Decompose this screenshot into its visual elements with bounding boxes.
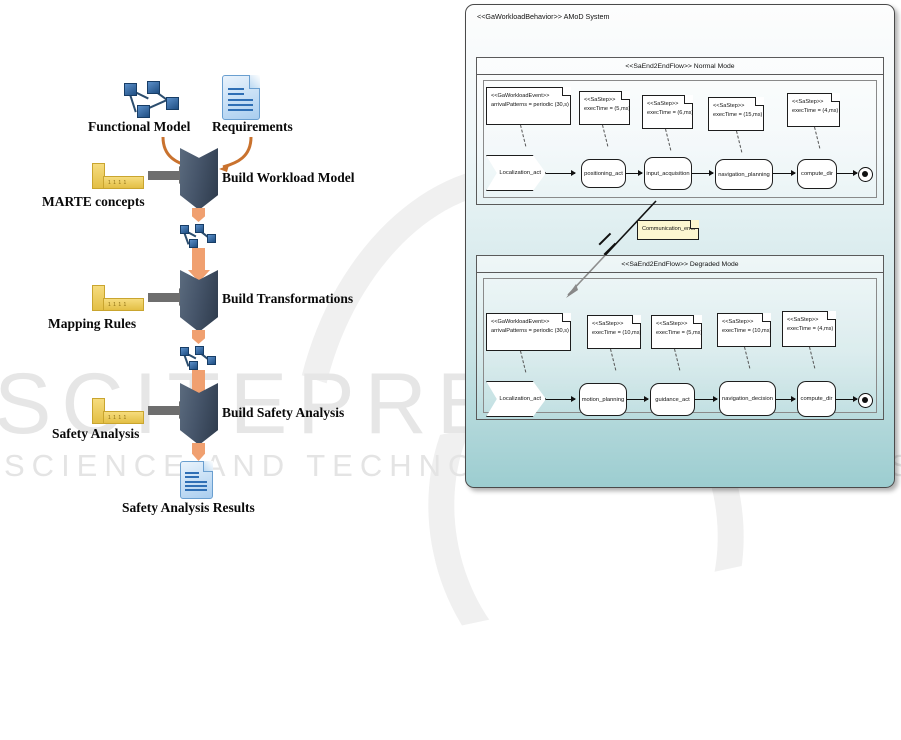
note-stereotype: <<SaStep>> <box>713 102 760 111</box>
left-workflow-diagram: Functional Model Requirements 1 1 1 1 Bu… <box>0 0 455 641</box>
node-compute-dir[interactable]: compute_dir <box>797 381 836 417</box>
note-anchor <box>520 351 526 373</box>
note-stereotype: <<SaStep>> <box>787 316 832 325</box>
node-localization-act[interactable]: Localization_act <box>486 381 546 417</box>
control-flow <box>837 173 857 174</box>
note-stereotype: <<SaStep>> <box>647 100 689 109</box>
note-anchor <box>736 131 742 153</box>
label-build-transformations: Build Transformations <box>222 291 353 307</box>
label-build-safety-analysis: Build Safety Analysis <box>222 405 344 421</box>
node-compute-dir[interactable]: compute_dir <box>797 159 837 189</box>
note-value: execTime = (5,ms) <box>656 329 698 338</box>
document-icon <box>180 461 213 499</box>
note-sastep: <<SaStep>> execTime = (10,ms) <box>587 315 641 349</box>
node-navigation-planning[interactable]: navigation_planning <box>715 159 773 190</box>
note-gaworkloadevent: <<GaWorkloadEvent>> arrivalPatterns = pe… <box>486 87 571 125</box>
flow-arrow-down <box>192 330 205 344</box>
node-localization-act[interactable]: Localization_act <box>486 155 546 191</box>
note-sastep: <<SaStep>> execTime = (5,ms) <box>579 91 630 125</box>
label-build-workload-model: Build Workload Model <box>222 170 355 186</box>
label-requirements: Requirements <box>212 119 293 135</box>
control-flow <box>546 399 575 400</box>
network-icon <box>178 222 216 246</box>
normal-mode-body: <<GaWorkloadEvent>> arrivalPatterns = pe… <box>483 80 877 198</box>
note-anchor <box>602 125 608 147</box>
control-flow <box>776 399 795 400</box>
input-arrow <box>148 293 180 302</box>
note-value: execTime = (15,ms) <box>713 111 760 120</box>
document-icon <box>222 75 260 120</box>
note-stereotype: <<SaStep>> <box>592 320 637 329</box>
uml-diagram-title: <<GaWorkloadBehavior>> AMoD System <box>477 12 610 21</box>
control-flow <box>546 173 575 174</box>
note-gaworkloadevent: <<GaWorkloadEvent>> arrivalPatterns = pe… <box>486 313 571 351</box>
node-final <box>858 167 873 182</box>
note-anchor <box>744 347 750 369</box>
note-anchor <box>814 127 820 149</box>
note-value: Communication_error <box>642 225 695 234</box>
control-flow <box>695 399 717 400</box>
node-final <box>858 393 873 408</box>
control-flow <box>692 173 713 174</box>
note-anchor <box>674 349 680 371</box>
note-sastep: <<SaStep>> execTime = (10,ms) <box>717 313 771 347</box>
note-stereotype: <<SaStep>> <box>656 320 698 329</box>
note-anchor <box>665 129 671 151</box>
note-value: execTime = (4,ms) <box>792 107 836 116</box>
note-value: execTime = (10,ms) <box>722 327 767 336</box>
note-sastep: <<SaStep>> execTime = (4,ms) <box>787 93 840 127</box>
note-communication-error: Communication_error <box>637 220 699 240</box>
control-flow <box>773 173 795 174</box>
input-arrow <box>148 171 180 180</box>
note-sastep: <<SaStep>> execTime = (5,ms) <box>651 315 702 349</box>
flow-arrow-down <box>192 443 205 461</box>
control-flow <box>627 399 648 400</box>
transition-bar <box>603 243 616 256</box>
node-guidance-act[interactable]: guidance_act <box>650 383 695 416</box>
note-value: execTime = (6,ms) <box>647 109 689 118</box>
input-arrow <box>148 406 180 415</box>
note-anchor <box>520 125 526 147</box>
control-flow <box>836 399 857 400</box>
key-icon: 1 1 1 1 <box>92 398 144 424</box>
control-flow <box>626 173 642 174</box>
normal-mode-frame: <<SaEnd2EndFlow>> Normal Mode <<GaWorklo… <box>476 57 884 205</box>
network-icon <box>120 78 178 116</box>
normal-mode-header: <<SaEnd2EndFlow>> Normal Mode <box>477 58 883 75</box>
label-mapping-rules: Mapping Rules <box>48 316 136 332</box>
flow-arrow-down <box>192 208 205 222</box>
node-navigation-decision[interactable]: navigation_decision <box>719 381 776 416</box>
note-sastep: <<SaStep>> execTime = (15,ms) <box>708 97 764 131</box>
note-stereotype: <<SaStep>> <box>792 98 836 107</box>
note-value: execTime = (4,ms) <box>787 325 832 334</box>
label-marte-concepts: MARTE concepts <box>42 194 145 210</box>
degraded-mode-frame: <<SaEnd2EndFlow>> Degraded Mode <<GaWork… <box>476 255 884 420</box>
note-value: arrivalPatterns = periodic (30,s) <box>491 327 567 336</box>
note-stereotype: <<GaWorkloadEvent>> <box>491 92 567 101</box>
note-value: execTime = (5,ms) <box>584 105 626 114</box>
label-functional-model: Functional Model <box>88 119 190 135</box>
note-sastep: <<SaStep>> execTime = (4,ms) <box>782 311 836 347</box>
note-anchor <box>610 349 616 371</box>
node-motion-planning[interactable]: motion_planning <box>579 383 627 416</box>
note-stereotype: <<GaWorkloadEvent>> <box>491 318 567 327</box>
note-sastep: <<SaStep>> execTime = (6,ms) <box>642 95 693 129</box>
flow-bar <box>192 370 205 390</box>
label-safety-analysis: Safety Analysis <box>52 426 139 442</box>
note-stereotype: <<SaStep>> <box>722 318 767 327</box>
network-icon <box>178 344 216 368</box>
key-icon: 1 1 1 1 <box>92 285 144 311</box>
degraded-mode-header: <<SaEnd2EndFlow>> Degraded Mode <box>477 256 883 273</box>
node-positioning-act[interactable]: positioning_act <box>581 159 626 188</box>
transition-bar <box>598 233 611 246</box>
flow-bar <box>192 248 205 270</box>
label-safety-analysis-results: Safety Analysis Results <box>122 500 255 516</box>
uml-activity-diagram-panel: <<GaWorkloadBehavior>> AMoD System <<SaE… <box>465 4 895 488</box>
degraded-mode-body: <<GaWorkloadEvent>> arrivalPatterns = pe… <box>483 278 877 413</box>
note-value: execTime = (10,ms) <box>592 329 637 338</box>
note-stereotype: <<SaStep>> <box>584 96 626 105</box>
note-value: arrivalPatterns = periodic (30,s) <box>491 101 567 110</box>
note-anchor <box>809 347 815 369</box>
key-icon: 1 1 1 1 <box>92 163 144 189</box>
node-input-acquisition[interactable]: input_acquisition <box>644 157 692 190</box>
